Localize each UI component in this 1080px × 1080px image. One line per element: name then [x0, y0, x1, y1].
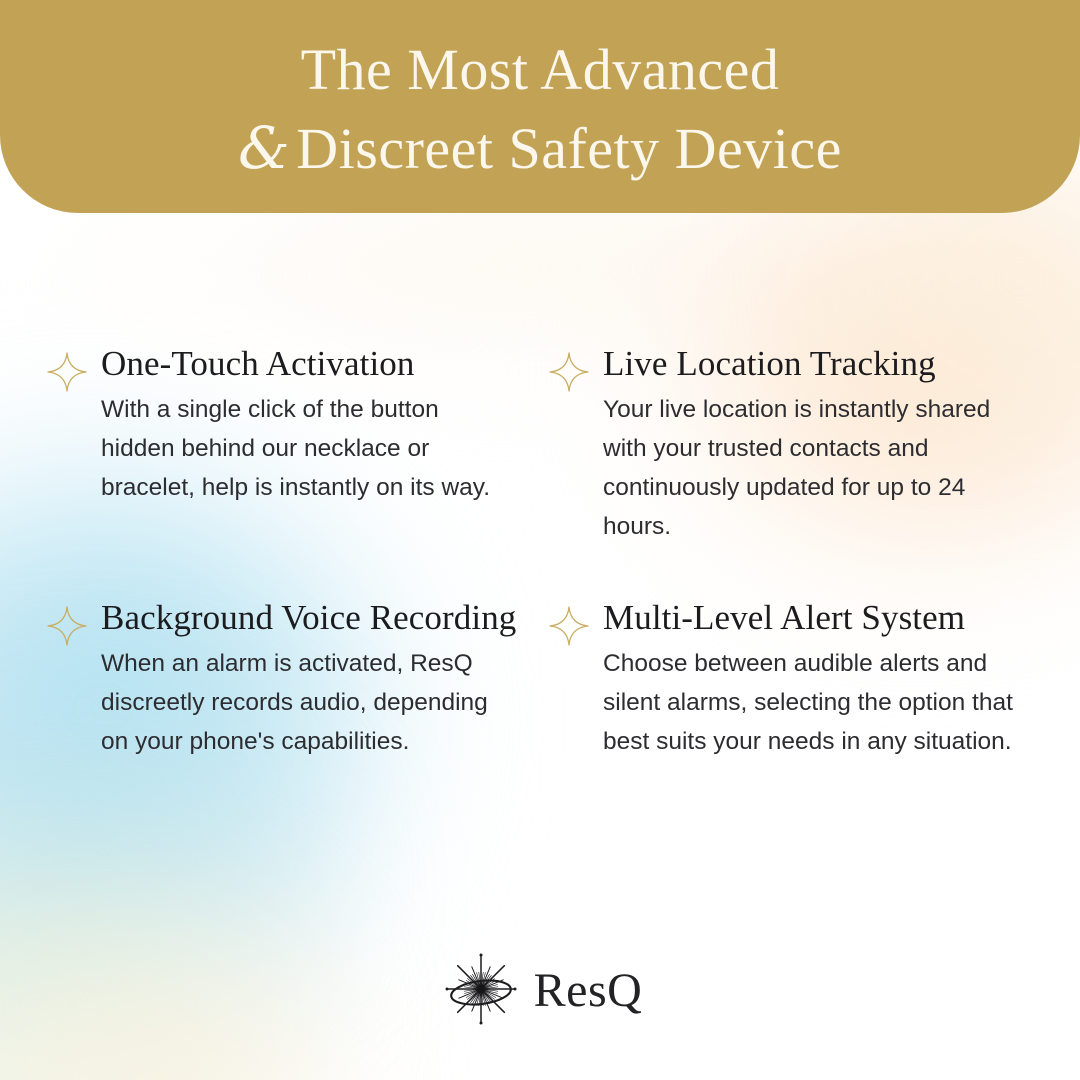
feature-item-multi-level-alert-system: Multi-Level Alert System Choose between … — [546, 546, 1040, 761]
feature-item-live-location-tracking: Live Location Tracking Your live locatio… — [546, 338, 1040, 546]
page-title-line-2-text: Discreet Safety Device — [296, 116, 842, 181]
sparkle-icon — [548, 351, 590, 393]
ampersand-glyph: & — [238, 114, 296, 182]
feature-item-one-touch-activation: One-Touch Activation With a single click… — [44, 338, 546, 546]
page-title-line-1: The Most Advanced — [301, 31, 780, 109]
feature-description: With a single click of the button hidden… — [100, 390, 513, 507]
header-band: The Most Advanced &Discreet Safety Devic… — [0, 0, 1080, 213]
sparkle-icon — [46, 351, 88, 393]
poster-canvas: The Most Advanced &Discreet Safety Devic… — [0, 0, 1080, 1080]
starburst-orbit-icon — [438, 946, 524, 1032]
sparkle-icon — [548, 605, 590, 647]
brand-name: ResQ — [534, 967, 643, 1015]
feature-description: When an alarm is activated, ResQ discree… — [100, 644, 513, 761]
sparkle-icon — [46, 605, 88, 647]
brand-logo: ResQ — [0, 946, 1080, 1032]
feature-grid: One-Touch Activation With a single click… — [44, 338, 1040, 761]
feature-title: Live Location Tracking — [602, 338, 1040, 389]
feature-title: One-Touch Activation — [100, 338, 546, 389]
feature-description: Choose between audible alerts and silent… — [602, 644, 1018, 761]
feature-title: Background Voice Recording — [100, 592, 546, 643]
feature-title: Multi-Level Alert System — [602, 592, 1040, 643]
page-title-line-2: &Discreet Safety Device — [238, 109, 842, 188]
feature-item-background-voice-recording: Background Voice Recording When an alarm… — [44, 546, 546, 761]
feature-description: Your live location is instantly shared w… — [602, 390, 1018, 546]
